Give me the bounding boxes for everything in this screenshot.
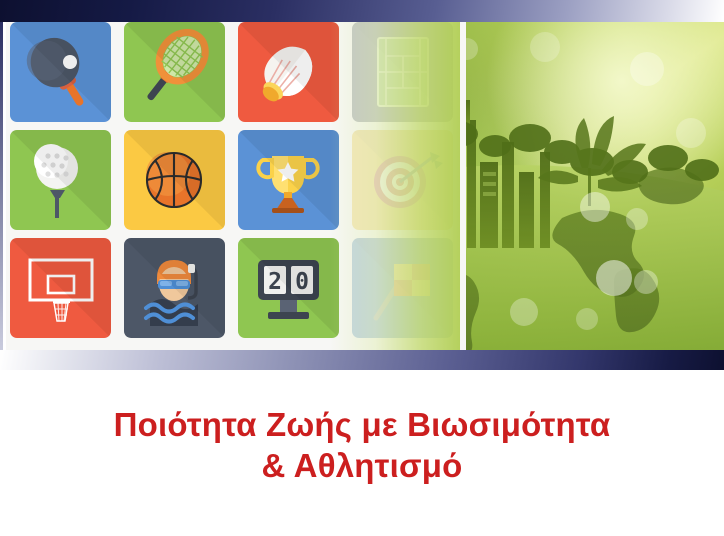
banner-top-border: [0, 0, 724, 22]
tile-scoreboard: 2 0: [238, 238, 339, 338]
tile-tennis: [124, 22, 225, 122]
tile-basketball: [124, 130, 225, 230]
tile-basketball-hoop: [10, 238, 111, 338]
tile-trophy: [238, 130, 339, 230]
tile-table-tennis: [10, 22, 111, 122]
tile-target: [352, 130, 453, 230]
tile-badminton: [238, 22, 339, 122]
tile-corner-flag: [352, 238, 453, 338]
tile-swimming: [124, 238, 225, 338]
sports-icon-grid: 2 0: [6, 22, 466, 350]
title-line-2: & Αθλητισμό: [0, 445, 724, 486]
banner-image: 2 0: [0, 0, 724, 370]
slide-title: Ποιότητα Ζωής με Βιωσιμότητα & Αθλητισμό: [0, 404, 724, 486]
banner-left-border: [0, 22, 3, 350]
tile-tennis-court: [352, 22, 453, 122]
tile-golf: [10, 130, 111, 230]
banner-bottom-border: [0, 350, 724, 370]
title-line-1: Ποιότητα Ζωής με Βιωσιμότητα: [0, 404, 724, 445]
